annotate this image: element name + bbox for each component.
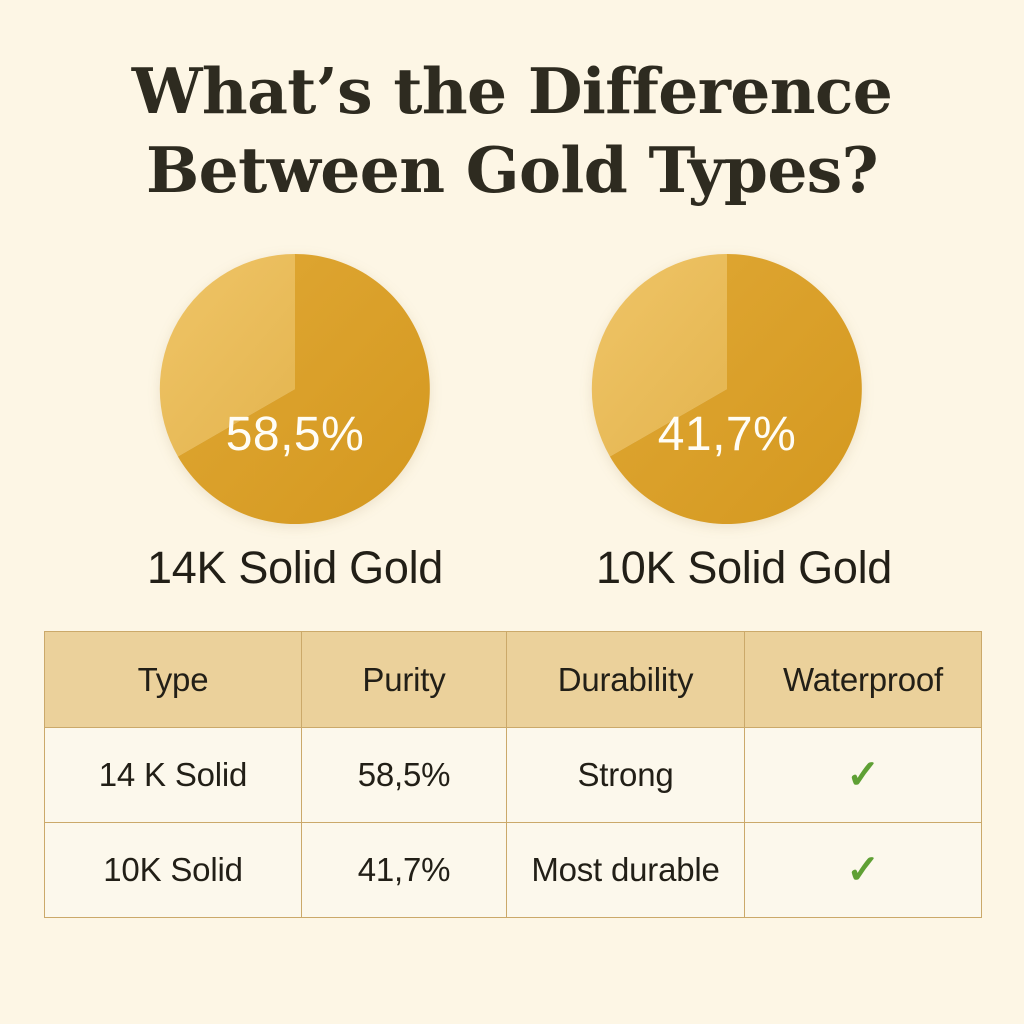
cell-durability: Strong — [507, 728, 745, 823]
pie-chart-14k: 58,5% — [159, 253, 431, 525]
column-header-purity: Purity — [302, 632, 507, 728]
column-header-waterproof: Waterproof — [745, 632, 982, 728]
page-title: What’s the Difference Between Gold Types… — [0, 52, 1024, 211]
cell-waterproof: ✓ — [745, 823, 982, 918]
table-body: 14 K Solid 58,5% Strong ✓ 10K Solid 41,7… — [45, 728, 982, 918]
pie-caption-group: 14K Solid Gold 10K Solid Gold — [0, 542, 1024, 604]
gold-types-infographic: What’s the Difference Between Gold Types… — [0, 0, 1024, 1024]
pie-chart-14k-graphic — [159, 253, 431, 525]
table-row: 14 K Solid 58,5% Strong ✓ — [45, 728, 982, 823]
table-header-row: Type Purity Durability Waterproof — [45, 632, 982, 728]
page-title-line-2: Between Gold Types? — [0, 131, 1024, 210]
check-icon: ✓ — [846, 755, 879, 795]
comparison-table: Type Purity Durability Waterproof 14 K S… — [44, 631, 982, 918]
check-icon: ✓ — [846, 850, 879, 890]
table-header: Type Purity Durability Waterproof — [45, 632, 982, 728]
cell-durability: Most durable — [507, 823, 745, 918]
cell-purity: 41,7% — [302, 823, 507, 918]
pie-chart-group: 58,5% 41,7% — [0, 253, 1024, 525]
cell-waterproof: ✓ — [745, 728, 982, 823]
comparison-table-wrapper: Type Purity Durability Waterproof 14 K S… — [44, 631, 981, 918]
cell-purity: 58,5% — [302, 728, 507, 823]
pie-caption-10k: 10K Solid Gold — [534, 542, 954, 594]
table-row: 10K Solid 41,7% Most durable ✓ — [45, 823, 982, 918]
column-header-durability: Durability — [507, 632, 745, 728]
pie-caption-14k: 14K Solid Gold — [85, 542, 505, 594]
column-header-type: Type — [45, 632, 302, 728]
page-title-line-1: What’s the Difference — [0, 52, 1024, 131]
pie-chart-10k: 41,7% — [591, 253, 863, 525]
cell-type: 14 K Solid — [45, 728, 302, 823]
pie-chart-10k-graphic — [591, 253, 863, 525]
cell-type: 10K Solid — [45, 823, 302, 918]
